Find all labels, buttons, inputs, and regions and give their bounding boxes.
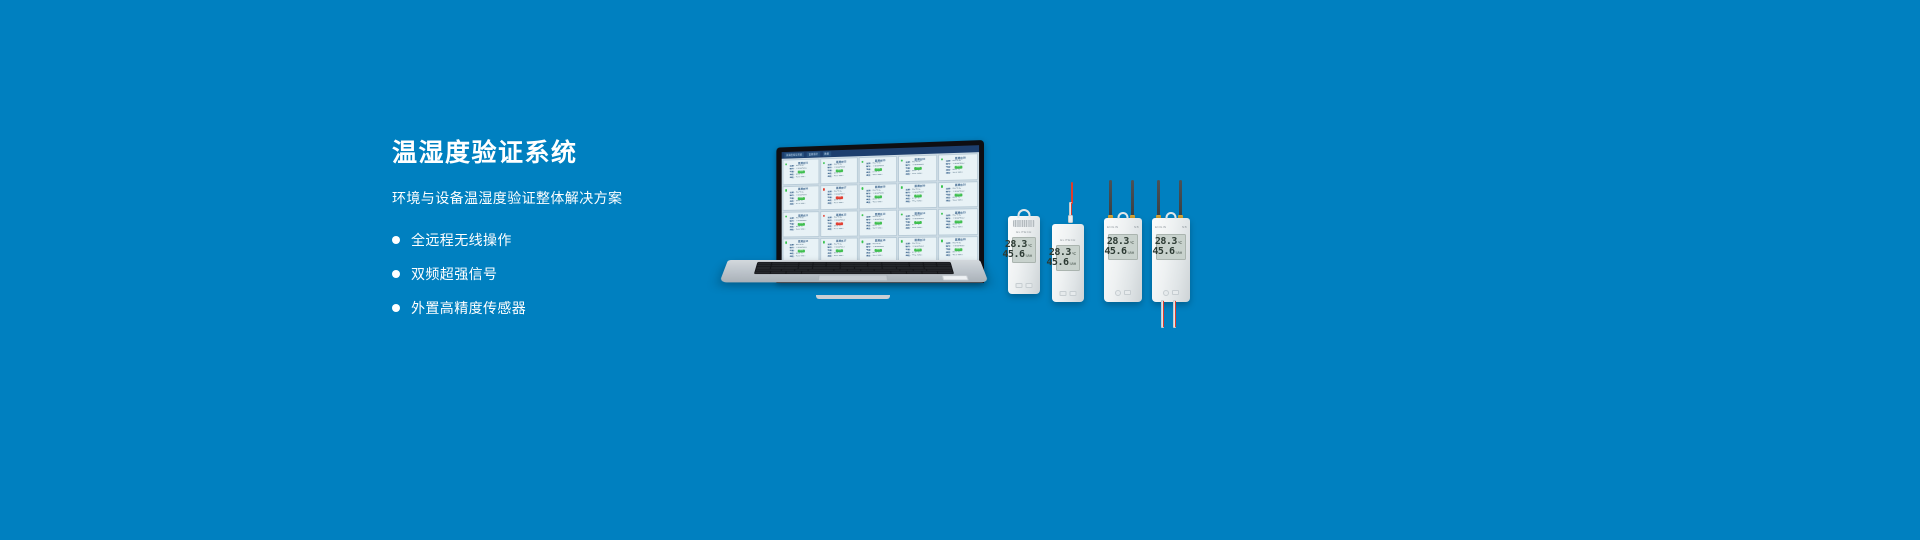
antenna-left-icon [1157, 180, 1160, 216]
promo-banner: 温湿度验证系统 环境与设备温湿度验证整体解决方案 全远程无线操作 双频超强信号 … [0, 0, 1920, 540]
monitor-card[interactable]: 监测点10设备:RC-4HC编号:TH2024010电量:93%温度:28.6 … [938, 181, 978, 208]
probe-red-line [1175, 301, 1176, 327]
monitor-card[interactable]: 监测点06设备:RC-4HC编号:TH2024006电量:81%温度:29.0 … [783, 185, 820, 211]
monitor-card-key: 湿度: [790, 177, 795, 180]
list-item: 双频超强信号 [392, 264, 722, 284]
probe-red-line [1071, 203, 1072, 215]
monitor-card-row: 湿度:45.2 %RH [946, 199, 975, 203]
monitor-card-key: 湿度: [906, 201, 911, 204]
lcd-hum-value: 45.6 [1104, 247, 1126, 257]
monitor-card-value: 45.9 %RH [953, 172, 963, 175]
status-led-icon [941, 212, 944, 215]
monitor-card[interactable]: 监测点08设备:RC-4HC编号:TH2024008电量:90%温度:28.0 … [859, 183, 897, 210]
monitor-card-key: 湿度: [906, 228, 911, 231]
laptop-screen: 温湿度验证系统 设备监控 数据 监测点01设备:RC-4HC编号:TH20240… [782, 145, 979, 272]
device-model-label: NB [1182, 225, 1187, 229]
lcd-hum-value: 45.6 [1002, 250, 1024, 260]
lcd-hum-unit: %RH [1026, 254, 1033, 258]
monitor-card-value: 45.1 %RH [912, 173, 922, 176]
monitor-card-value: 46.5 %RH [953, 227, 963, 230]
monitor-card-key: 湿度: [946, 254, 951, 257]
monitor-card[interactable]: 监测点02设备:RC-4HC编号:TH2024002电量:88%温度:28.1 … [820, 157, 858, 184]
device-button-left[interactable] [1060, 291, 1067, 296]
bullet-dot-icon [392, 304, 400, 312]
device-body: ENGIN NB 28.3 ℃ 45.6 %RH [1104, 218, 1142, 302]
monitor-card-value: 44.8 %RH [873, 174, 883, 177]
monitor-card[interactable]: 监测点13设备:RC-4HC编号:TH2024013电量:91%温度:28.2 … [859, 210, 897, 236]
monitor-card-row: 湿度:45.8 %RH [790, 229, 817, 232]
device-button-row[interactable] [1115, 290, 1131, 296]
monitor-card-key: 湿度: [906, 255, 911, 258]
bullet-dot-icon [392, 270, 400, 278]
device-button-mode[interactable] [1124, 290, 1131, 295]
monitor-card-grid: 监测点01设备:RC-4HC编号:TH2024001电量:95%温度:28.3 … [782, 152, 979, 264]
keyboard-key[interactable] [907, 272, 922, 274]
feature-list: 全远程无线操作 双频超强信号 外置高精度传感器 [392, 230, 722, 318]
device-dual-antenna-logger-2: ENGIN NB 28.3 ℃ 45.6 %RH [1152, 180, 1190, 302]
device-button-mode[interactable] [1172, 290, 1179, 295]
monitor-card[interactable]: 监测点05设备:RC-4HC编号:TH2024005电量:96%温度:28.2 … [938, 153, 978, 181]
monitor-card-key: 湿度: [906, 174, 911, 177]
keyboard-key[interactable] [755, 272, 770, 274]
device-body: ELITECH 28.3 ℃ 45.6 %RH [1008, 216, 1040, 294]
monitor-card-row: 湿度:46.0 %RH [866, 201, 894, 205]
device-probe-logger: ELITECH 28.3 ℃ 45.6 %RH [1052, 202, 1084, 302]
monitor-card[interactable]: 监测点19设备:RC-4HC编号:TH2024019电量:86%温度:27.6 … [898, 236, 937, 262]
hanging-probe-right [1173, 300, 1176, 328]
lcd-hum-line: 45.6 %RH [1112, 247, 1134, 257]
monitor-card-row: 湿度:44.2 %RH [906, 254, 935, 257]
device-model-label: NB [1134, 225, 1139, 229]
lcd-hum-unit: %RH [1176, 251, 1183, 255]
monitor-card[interactable]: 监测点09设备:RC-4HC编号:TH2024009电量:85%温度:27.8 … [898, 182, 937, 209]
keyboard-key[interactable] [771, 272, 786, 274]
monitor-card-row: 湿度:45.1 %RH [906, 173, 935, 177]
dashboard-tab-monitor[interactable]: 设备监控 [807, 152, 820, 157]
device-wall-mount-logger: ELITECH 28.3 ℃ 45.6 %RH [1008, 216, 1040, 294]
monitor-card-value: 44.5 %RH [912, 200, 922, 203]
status-led-icon [900, 213, 902, 216]
probe-connector [1068, 215, 1073, 223]
feature-label: 双频超强信号 [411, 264, 497, 284]
lcd-temp-unit: ℃ [1130, 241, 1134, 245]
monitor-card-key: 湿度: [828, 176, 833, 179]
laptop-trackpad[interactable] [818, 275, 888, 281]
keyboard-key[interactable] [786, 272, 801, 274]
device-brand-row: ENGIN NB [1104, 225, 1142, 229]
antenna-right-icon [1179, 180, 1182, 216]
device-body: ENGIN NB 28.3 ℃ 45.6 %RH [1152, 218, 1190, 302]
monitor-card-value: 46.0 %RH [873, 201, 883, 204]
monitor-card-row: 湿度:45.0 %RH [790, 255, 817, 258]
hanger-hook-icon [1166, 212, 1177, 219]
device-button-power[interactable] [1163, 290, 1169, 296]
status-led-icon [861, 187, 863, 190]
dashboard-tab-title[interactable]: 温湿度验证系统 [784, 152, 804, 157]
monitor-card-value: 44.9 %RH [912, 227, 922, 230]
laptop-spec-sticker [942, 275, 969, 280]
device-brand-row: ENGIN NB [1152, 225, 1190, 229]
lcd-temp-unit: ℃ [1072, 252, 1076, 256]
keyboard-key[interactable] [802, 272, 891, 274]
device-button-right[interactable] [1070, 291, 1077, 296]
device-dual-antenna-logger-1: ENGIN NB 28.3 ℃ 45.6 %RH [1104, 180, 1142, 302]
monitor-card-row: 湿度:47.3 %RH [790, 203, 817, 207]
device-button-left[interactable] [1016, 283, 1023, 288]
status-led-icon [900, 159, 902, 162]
status-led-icon [785, 241, 787, 243]
device-button-right[interactable] [1026, 283, 1033, 288]
sensor-device-group: ELITECH 28.3 ℃ 45.6 %RH [1000, 172, 1220, 312]
list-item: 全远程无线操作 [392, 230, 722, 250]
probe-stem [1069, 202, 1072, 216]
status-led-icon [785, 189, 787, 192]
status-led-icon [785, 215, 787, 218]
monitor-card-row: 湿度:44.8 %RH [866, 174, 894, 178]
probe-cable [1071, 182, 1073, 204]
status-led-icon [823, 241, 825, 244]
status-led-icon [861, 160, 863, 163]
laptop-deck [719, 260, 988, 282]
device-brand-label: ENGIN [1107, 225, 1119, 229]
lcd-hum-unit: %RH [1070, 262, 1077, 266]
device-lcd: 28.3 ℃ 45.6 %RH [1156, 234, 1186, 260]
monitor-card-key: 湿度: [946, 227, 951, 230]
device-brand-label: ENGIN [1155, 225, 1167, 229]
page-subtitle: 环境与设备温湿度验证整体解决方案 [392, 188, 722, 208]
lcd-hum-line: 45.6 %RH [1060, 258, 1076, 268]
status-led-icon [823, 214, 825, 217]
monitor-card-key: 湿度: [866, 255, 871, 258]
monitor-card[interactable]: 监测点20设备:RC-4HC编号:TH2024020电量:82%温度:28.7 … [938, 236, 978, 263]
status-led-icon [900, 186, 902, 189]
monitor-card-key: 湿度: [866, 201, 871, 204]
keyboard-row [755, 272, 953, 274]
status-led-icon [823, 162, 825, 165]
laptop-front-edge [816, 295, 890, 299]
monitor-card[interactable]: 监测点01设备:RC-4HC编号:TH2024001电量:95%温度:28.3 … [783, 158, 820, 184]
sensor-vent-icon [1013, 220, 1035, 227]
monitor-card[interactable]: 监测点15设备:RC-4HC编号:TH2024015电量:97%温度:28.8 … [938, 208, 978, 235]
device-button-row[interactable] [1060, 291, 1077, 296]
list-item: 外置高精度传感器 [392, 298, 722, 318]
device-brand-label: ELITECH [1008, 230, 1040, 234]
monitor-card-value: 46.2 %RH [834, 175, 844, 178]
monitor-card-key: 湿度: [790, 255, 795, 258]
keyboard-key[interactable] [938, 272, 953, 274]
monitor-card-row: 湿度:46.1 %RH [946, 254, 975, 257]
lcd-temp-unit: ℃ [1028, 244, 1032, 248]
monitor-card-row: 湿度:46.2 %RH [828, 175, 856, 179]
lcd-hum-value: 45.6 [1152, 247, 1174, 257]
monitor-card[interactable]: 监测点17设备:RC-4HC编号:TH2024017电量:78%温度:28.9 … [820, 237, 858, 263]
monitor-card[interactable]: 监测点03设备:RC-4HC编号:TH2024003电量:92%温度:27.9 … [859, 156, 897, 183]
copy-block: 温湿度验证系统 环境与设备温湿度验证整体解决方案 全远程无线操作 双频超强信号 … [392, 140, 722, 332]
monitor-card-row: 湿度:45.4 %RH [866, 228, 894, 231]
monitor-card-row: 湿度:46.5 %RH [946, 227, 975, 230]
monitor-card-row: 湿度:47.0 %RH [828, 228, 856, 231]
device-button-power[interactable] [1115, 290, 1121, 296]
monitor-card[interactable]: 监测点14设备:RC-4HC编号:TH2024014电量:83%温度:27.7 … [898, 209, 937, 236]
monitor-card-value: 46.1 %RH [953, 254, 963, 257]
monitor-card-key: 湿度: [828, 255, 833, 258]
monitor-card-value: 45.0 %RH [796, 255, 805, 258]
device-button-row[interactable] [1163, 290, 1179, 296]
keyboard-key[interactable] [922, 272, 937, 274]
keyboard-key[interactable] [891, 272, 906, 274]
monitor-card-value: 45.6 %RH [796, 177, 805, 180]
device-body: ELITECH 28.3 ℃ 45.6 %RH [1052, 224, 1084, 302]
monitor-card-key: 湿度: [790, 229, 795, 232]
monitor-card[interactable]: 监测点11设备:RC-4HC编号:TH2024011电量:87%温度:28.3 … [783, 211, 820, 237]
laptop-keyboard[interactable] [754, 262, 954, 274]
monitor-card-row: 湿度:44.9 %RH [906, 227, 935, 230]
monitor-card-key: 湿度: [790, 203, 795, 206]
monitor-card-row: 湿度:46.8 %RH [828, 255, 856, 258]
monitor-card-key: 湿度: [828, 229, 833, 232]
hanger-hook-icon [1018, 209, 1031, 218]
hanging-probe-left [1161, 300, 1164, 328]
status-led-icon [823, 188, 825, 191]
monitor-card-key: 湿度: [946, 200, 951, 203]
monitor-card-value: 45.2 %RH [953, 199, 963, 202]
monitor-card[interactable]: 监测点04设备:RC-4HC编号:TH2024004电量:79%温度:28.5 … [898, 155, 937, 182]
status-led-icon [941, 158, 944, 161]
probe-red-line [1163, 301, 1164, 327]
monitor-card-key: 湿度: [866, 175, 871, 178]
status-led-icon [941, 185, 944, 188]
monitor-card-key: 湿度: [866, 228, 871, 231]
antenna-left-icon [1109, 180, 1112, 216]
monitor-card-value: 47.0 %RH [834, 228, 844, 231]
monitor-card-key: 湿度: [828, 202, 833, 205]
status-led-icon [861, 240, 863, 243]
monitor-card-key: 湿度: [946, 172, 951, 175]
monitor-card-value: 46.8 %RH [834, 255, 844, 258]
bullet-dot-icon [392, 236, 400, 244]
monitor-card-value: 45.8 %RH [796, 229, 805, 232]
page-title: 温湿度验证系统 [392, 140, 722, 168]
monitor-card-row: 湿度:44.5 %RH [906, 200, 935, 204]
monitor-card-value: 44.2 %RH [912, 254, 922, 257]
lcd-hum-line: 45.6 %RH [1160, 247, 1182, 257]
lcd-hum-value: 45.6 [1046, 258, 1068, 268]
antenna-right-icon [1131, 180, 1134, 216]
device-lcd: 28.3 ℃ 45.6 %RH [1108, 234, 1138, 260]
lcd-hum-line: 45.6 %RH [1016, 250, 1032, 260]
lcd-temp-unit: ℃ [1178, 241, 1182, 245]
monitor-card[interactable]: 监测点07设备:RC-4HC编号:TH2024007电量:74%温度:28.4 … [820, 184, 858, 210]
monitor-card-row: 湿度:45.5 %RH [828, 202, 856, 206]
feature-label: 全远程无线操作 [411, 230, 512, 250]
monitor-card-row: 湿度:45.9 %RH [946, 172, 975, 176]
feature-label: 外置高精度传感器 [411, 298, 526, 318]
monitor-card-value: 45.5 %RH [834, 202, 844, 205]
hanger-hook-icon [1118, 212, 1129, 219]
status-led-icon [861, 214, 863, 217]
dashboard-tab-data[interactable]: 数据 [823, 151, 831, 156]
monitor-card-value: 45.4 %RH [873, 228, 883, 231]
status-led-icon [785, 163, 787, 166]
status-led-icon [900, 240, 902, 243]
laptop-product-image: 温湿度验证系统 设备监控 数据 监测点01设备:RC-4HC编号:TH20240… [720, 140, 988, 300]
monitor-card-row: 湿度:45.6 %RH [790, 176, 817, 180]
device-lcd: 28.3 ℃ 45.6 %RH [1056, 245, 1080, 271]
monitor-card[interactable]: 监测点12设备:RC-4HC编号:TH2024012电量:76%温度:29.1 … [820, 210, 858, 236]
device-brand-label: ELITECH [1052, 238, 1084, 242]
status-led-icon [941, 239, 944, 242]
laptop-base [720, 260, 988, 300]
monitor-card-value: 45.3 %RH [873, 255, 883, 258]
monitor-card[interactable]: 监测点18设备:RC-4HC编号:TH2024018电量:94%温度:28.4 … [859, 237, 897, 263]
monitor-card-value: 47.3 %RH [796, 203, 805, 206]
device-lcd: 28.3 ℃ 45.6 %RH [1012, 237, 1036, 263]
monitor-card-row: 湿度:45.3 %RH [866, 255, 894, 258]
device-button-row[interactable] [1016, 283, 1033, 288]
lcd-hum-unit: %RH [1128, 251, 1135, 255]
